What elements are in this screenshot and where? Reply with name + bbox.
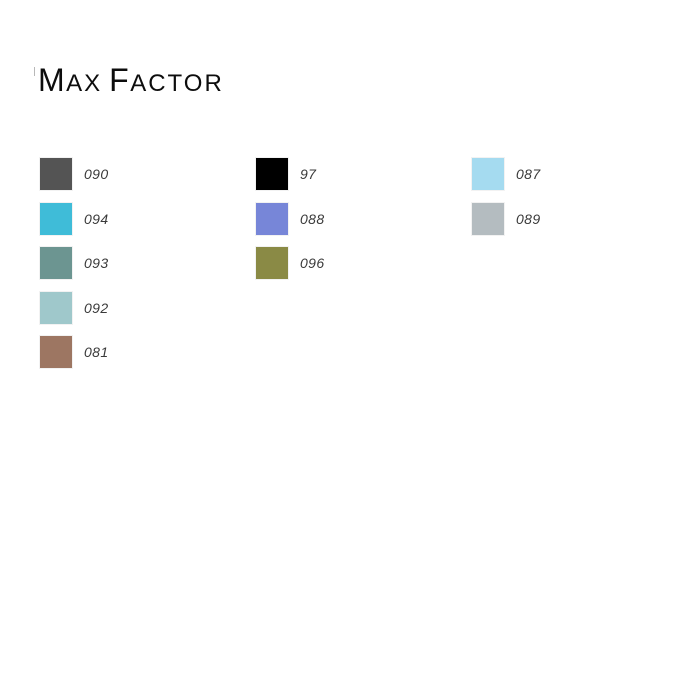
swatch-code-label: 092 bbox=[84, 292, 109, 324]
swatch-item[interactable]: 090 bbox=[40, 158, 109, 203]
swatch-item[interactable]: 096 bbox=[256, 247, 325, 292]
swatch-code-label: 090 bbox=[84, 158, 109, 190]
swatch-code-label: 97 bbox=[300, 158, 316, 190]
swatch-item[interactable]: 094 bbox=[40, 203, 109, 248]
swatch-color-chip[interactable] bbox=[256, 203, 288, 235]
swatch-item[interactable]: 093 bbox=[40, 247, 109, 292]
brand-logo-m: M bbox=[38, 62, 66, 98]
swatch-item[interactable]: 081 bbox=[40, 336, 109, 381]
swatch-code-label: 093 bbox=[84, 247, 109, 279]
swatch-code-label: 081 bbox=[84, 336, 109, 368]
swatch-color-chip[interactable] bbox=[40, 292, 72, 324]
swatch-color-chip[interactable] bbox=[40, 203, 72, 235]
swatch-code-label: 094 bbox=[84, 203, 109, 235]
brand-logo-f: F bbox=[109, 62, 130, 98]
swatch-color-chip[interactable] bbox=[472, 158, 504, 190]
swatch-item[interactable]: 087 bbox=[472, 158, 541, 203]
swatch-color-chip[interactable] bbox=[40, 336, 72, 368]
swatch-code-label: 089 bbox=[516, 203, 541, 235]
brand-tick-mark bbox=[34, 67, 35, 76]
swatch-code-label: 087 bbox=[516, 158, 541, 190]
swatch-color-chip[interactable] bbox=[40, 247, 72, 279]
brand-logo-factor: FACTOR bbox=[109, 64, 224, 96]
swatch-column-3: 087089 bbox=[472, 158, 541, 247]
swatch-column-1: 090094093092081 bbox=[40, 158, 109, 381]
swatch-column-2: 97088096 bbox=[256, 158, 325, 292]
swatch-item[interactable]: 089 bbox=[472, 203, 541, 248]
brand-logo-max: MAX bbox=[38, 64, 102, 96]
swatch-code-label: 088 bbox=[300, 203, 325, 235]
swatch-color-chip[interactable] bbox=[256, 158, 288, 190]
brand-logo-actor: ACTOR bbox=[130, 70, 224, 97]
swatch-color-chip[interactable] bbox=[256, 247, 288, 279]
swatch-item[interactable]: 97 bbox=[256, 158, 325, 203]
swatch-item[interactable]: 088 bbox=[256, 203, 325, 248]
page-canvas: MAXFACTOR 09009409309208197088096087089 bbox=[0, 0, 700, 700]
swatch-color-chip[interactable] bbox=[472, 203, 504, 235]
brand-logo: MAXFACTOR bbox=[34, 56, 224, 96]
brand-logo-ax: AX bbox=[66, 70, 102, 97]
swatch-item[interactable]: 092 bbox=[40, 292, 109, 337]
swatch-code-label: 096 bbox=[300, 247, 325, 279]
swatch-color-chip[interactable] bbox=[40, 158, 72, 190]
